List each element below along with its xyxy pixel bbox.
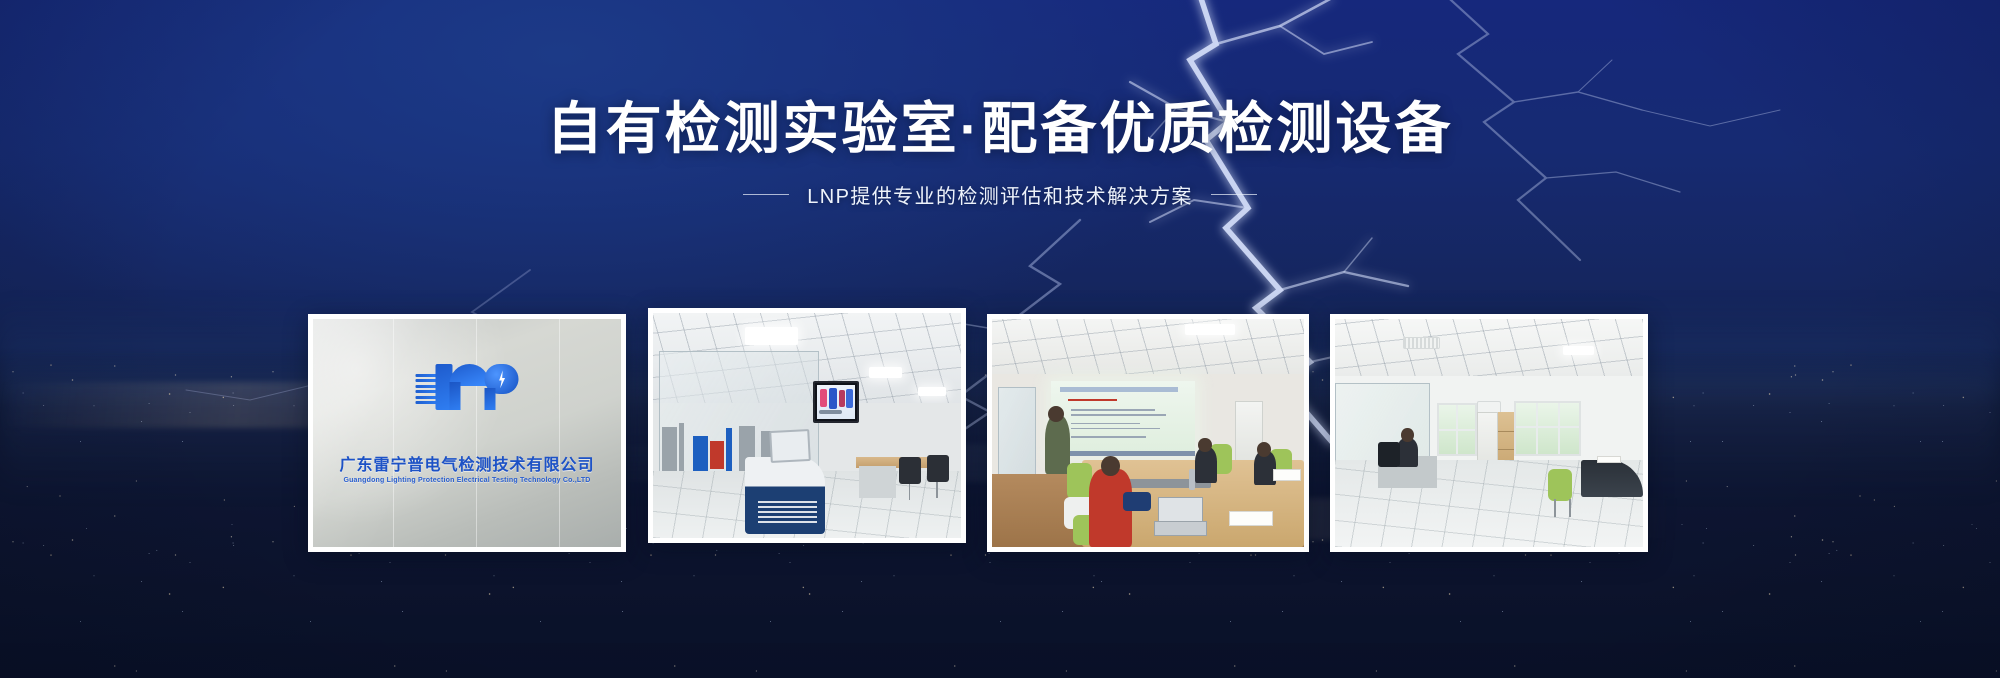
chair-leg xyxy=(909,484,911,500)
laptop-on-table xyxy=(1154,497,1207,538)
dash-right-decoration xyxy=(1211,194,1257,195)
rig-frame xyxy=(662,427,677,476)
page-title: 自有检测实验室·配备优质检测设备 xyxy=(0,96,2000,162)
seated-person-right xyxy=(1195,447,1217,483)
slide-text-line xyxy=(1071,428,1160,430)
ceiling-air-vent xyxy=(1403,337,1440,348)
chair-leg xyxy=(936,482,938,498)
slide-text-line xyxy=(1071,436,1146,438)
wall-panel-seam xyxy=(476,319,477,547)
hero-copy: 自有检测实验室·配备优质检测设备 LNP提供专业的检测评估和技术解决方案 xyxy=(0,96,2000,209)
signage-company-name-cn: 广东雷宁普电气检测技术有限公司 xyxy=(313,451,621,475)
window-mullion xyxy=(1516,426,1580,428)
laptop-lid xyxy=(1158,497,1203,522)
document-on-table xyxy=(1229,511,1273,527)
wall-mounted-tv xyxy=(813,381,859,424)
ceiling-panel-light xyxy=(918,387,946,396)
signage-wall: 广东雷宁普电气检测技术有限公司 Guangdong Lighting Prote… xyxy=(313,319,621,547)
office-ceiling xyxy=(1335,319,1643,381)
tv-content-blob xyxy=(829,388,837,409)
gallery-card-meeting-room[interactable] xyxy=(987,314,1309,552)
lab-chair xyxy=(927,455,949,482)
wall-panel-seam xyxy=(393,319,394,547)
ceiling-panel-light xyxy=(1563,346,1594,355)
chair-leg xyxy=(1569,499,1571,517)
tv-screen xyxy=(817,385,855,420)
gallery-card-company-signage[interactable]: 广东雷宁普电气检测技术有限公司 Guangdong Lighting Prote… xyxy=(308,314,626,552)
photo-office-workspace xyxy=(1335,319,1643,547)
logo-letter-n xyxy=(450,364,490,410)
presenter-person xyxy=(1045,415,1070,474)
slide-text-line xyxy=(1071,409,1154,411)
monitor-back xyxy=(1378,442,1400,467)
console-vents xyxy=(758,501,817,524)
seated-person-head xyxy=(1198,438,1212,453)
lightning-spark-icon xyxy=(498,370,507,388)
tv-content-blob xyxy=(819,410,842,413)
presenter-head xyxy=(1048,406,1064,422)
seated-person-head xyxy=(1101,456,1120,477)
wall-panel-seam xyxy=(559,319,560,547)
slide-heading-line xyxy=(1068,399,1117,401)
counter-document xyxy=(1597,456,1622,463)
photo-testing-laboratory xyxy=(653,313,961,538)
window-mullion xyxy=(1558,403,1560,454)
shelf-divider xyxy=(1498,431,1513,433)
shelf-divider xyxy=(1498,449,1513,451)
office-window-right xyxy=(1514,401,1582,456)
hero-banner: 自有检测实验室·配备优质检测设备 LNP提供专业的检测评估和技术解决方案 xyxy=(0,0,2000,678)
gallery-card-office-workspace[interactable] xyxy=(1330,314,1648,552)
gallery-card-testing-laboratory[interactable] xyxy=(648,308,966,543)
page-subtitle: LNP提供专业的检测评估和技术解决方案 xyxy=(807,180,1193,209)
dash-left-decoration xyxy=(743,194,789,195)
lab-control-console xyxy=(745,457,825,534)
signage-company-name-en: Guangdong Lighting Protection Electrical… xyxy=(313,477,621,484)
logo-letter-p xyxy=(485,364,519,410)
console-monitor xyxy=(769,429,811,463)
slide-text-line xyxy=(1071,423,1140,425)
logo-bars xyxy=(416,374,438,405)
photo-meeting-room xyxy=(992,319,1304,547)
tv-content-blob xyxy=(846,389,853,408)
window-mullion xyxy=(1536,403,1538,454)
rig-blue-unit xyxy=(693,436,708,475)
ceiling-panel-light xyxy=(745,327,797,345)
lab-chair xyxy=(899,457,921,484)
document-on-table xyxy=(1273,469,1301,480)
office-worker-head xyxy=(1401,428,1413,442)
subtitle-row: LNP提供专业的检测评估和技术解决方案 xyxy=(0,180,2000,209)
office-window-left xyxy=(1437,403,1477,455)
tv-content-blob xyxy=(839,390,845,407)
rig-red-unit xyxy=(710,441,724,469)
ceiling-panel-light xyxy=(1185,324,1235,335)
seated-person-sleeve xyxy=(1123,492,1151,510)
window-mullion xyxy=(1439,429,1475,431)
chair-leg xyxy=(1554,499,1556,517)
signage-text: 广东雷宁普电气检测技术有限公司 Guangdong Lighting Prote… xyxy=(313,451,621,484)
meeting-ceiling xyxy=(992,319,1304,378)
office-visitor-chair xyxy=(1548,469,1573,501)
laptop-base xyxy=(1154,521,1207,536)
ceiling-tile-grid xyxy=(992,319,1304,378)
wall-spotlight xyxy=(313,319,529,547)
slide-titlebar xyxy=(1060,387,1178,392)
ceiling-tile-grid xyxy=(1335,319,1643,381)
lnp-logo-icon xyxy=(416,364,519,410)
photo-company-signage: 广东雷宁普电气检测技术有限公司 Guangdong Lighting Prote… xyxy=(313,319,621,547)
water-bottle xyxy=(1189,469,1196,490)
slide-text-line xyxy=(1071,414,1166,416)
tv-content-blob xyxy=(820,389,827,407)
lab-desk-body xyxy=(859,466,896,498)
slide-taskbar xyxy=(1051,451,1195,456)
ceiling-panel-light xyxy=(869,367,903,378)
projector-screen xyxy=(1051,381,1195,456)
